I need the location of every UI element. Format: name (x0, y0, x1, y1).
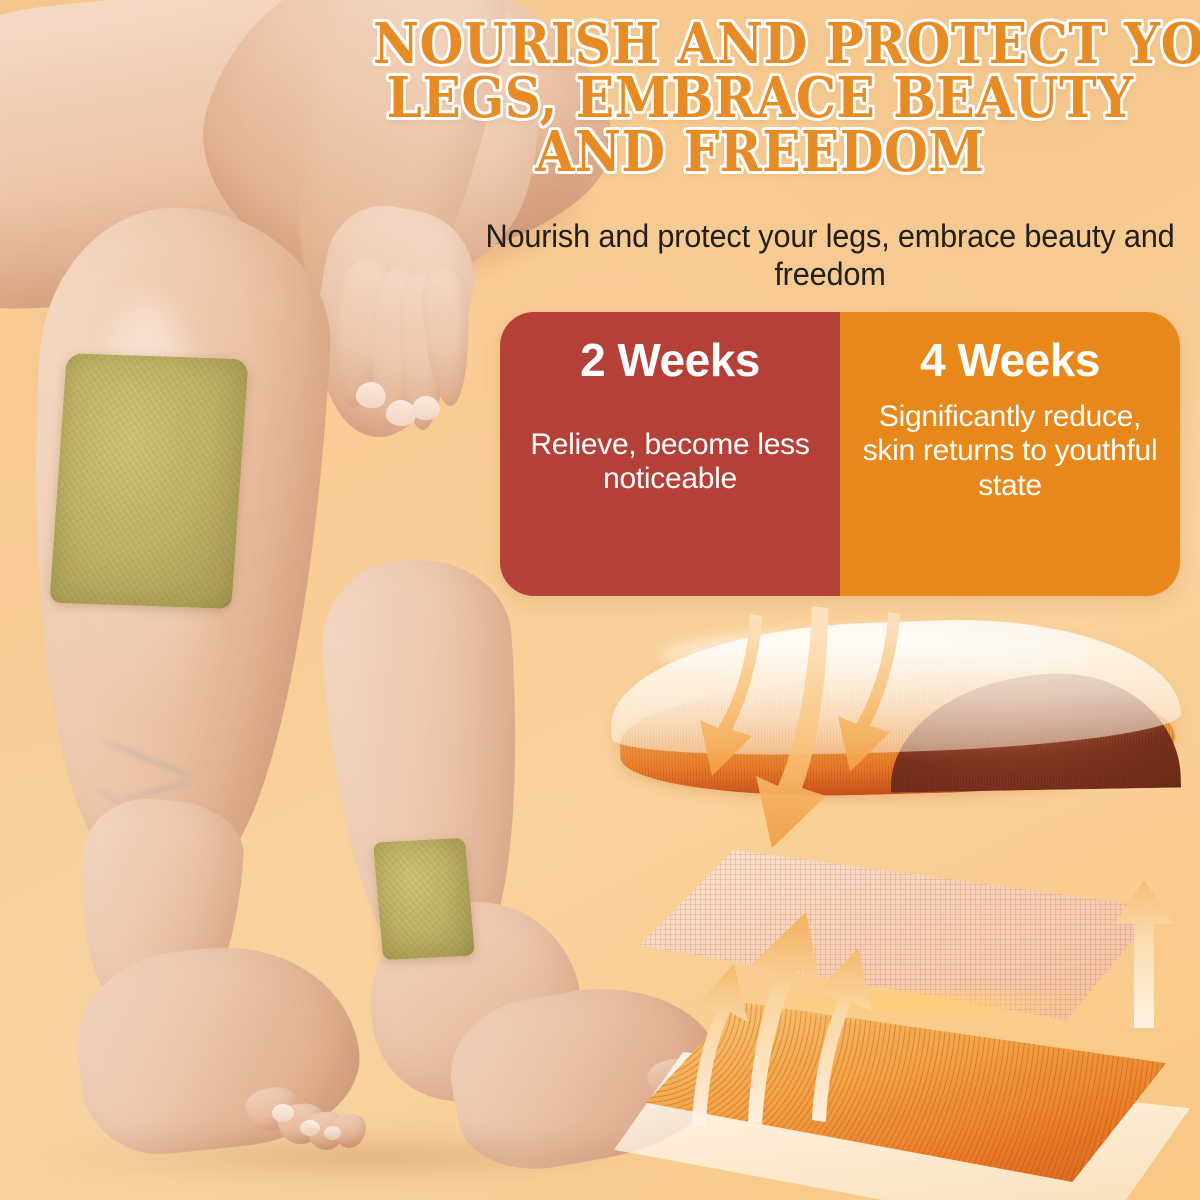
panel-2-weeks: 2 Weeks Relieve, become less noticeable (500, 312, 840, 596)
panel-4-weeks-title: 4 Weeks (920, 336, 1100, 384)
arrow-down-icon (818, 608, 938, 808)
advertisement-canvas: NOURISH AND PROTECT YOUR LEGS, EMBRACE B… (0, 0, 1200, 1200)
timeline-comparison-card: 2 Weeks Relieve, become less noticeable … (500, 312, 1180, 596)
fingernail (412, 396, 440, 420)
headline-line-2: LEGS, EMBRACE BEAUTY (373, 72, 1147, 126)
subtitle: Nourish and protect your legs, embrace b… (475, 218, 1185, 294)
arrow-up-icon (782, 918, 892, 1128)
panel-2-weeks-body: Relieve, become less noticeable (514, 428, 826, 496)
headline-line-3: AND FREEDOM (373, 126, 1147, 180)
panel-4-weeks: 4 Weeks Significantly reduce, skin retur… (840, 312, 1180, 596)
legs-photo (0, 0, 620, 1200)
ankle-patch (373, 838, 475, 960)
calf-patch (49, 353, 248, 609)
panel-4-weeks-body: Significantly reduce, skin returns to yo… (854, 400, 1166, 503)
headline: NOURISH AND PROTECT YOUR LEGS, EMBRACE B… (373, 18, 1147, 179)
ground-shadow (40, 1128, 680, 1186)
panel-2-weeks-title: 2 Weeks (580, 336, 760, 384)
layered-patch-illustration (600, 600, 1200, 1160)
headline-line-1: NOURISH AND PROTECT YOUR (373, 18, 1147, 72)
arrow-up-icon (1100, 872, 1190, 1032)
toenail (272, 1104, 294, 1122)
